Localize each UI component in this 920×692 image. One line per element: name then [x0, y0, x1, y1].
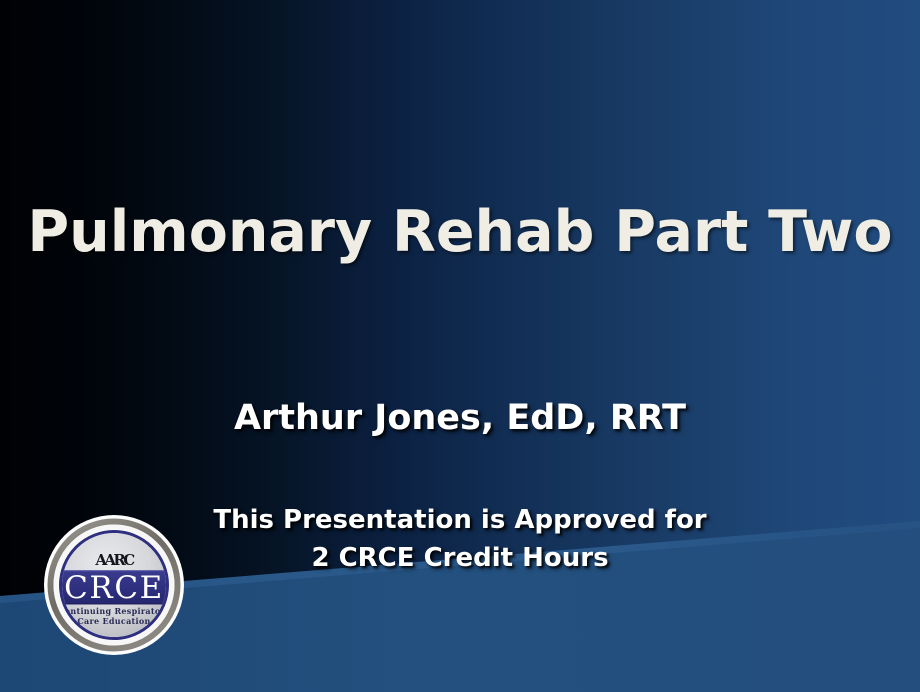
aarc-monogram-text: AARC — [94, 551, 135, 569]
crce-tagline-line-1: Continuing Respiratory — [58, 606, 170, 616]
presenter-name: Arthur Jones, EdD, RRT — [0, 398, 920, 438]
crce-logo-icon: CRCE AARC Continuing Respiratory Care Ed… — [36, 513, 192, 658]
crce-acronym-text: CRCE — [64, 570, 164, 606]
crce-tagline-line-2: Care Education — [77, 616, 150, 626]
page-title: Pulmonary Rehab Part Two — [0, 203, 920, 263]
presentation-slide: Pulmonary Rehab Part Two Arthur Jones, E… — [0, 0, 920, 692]
